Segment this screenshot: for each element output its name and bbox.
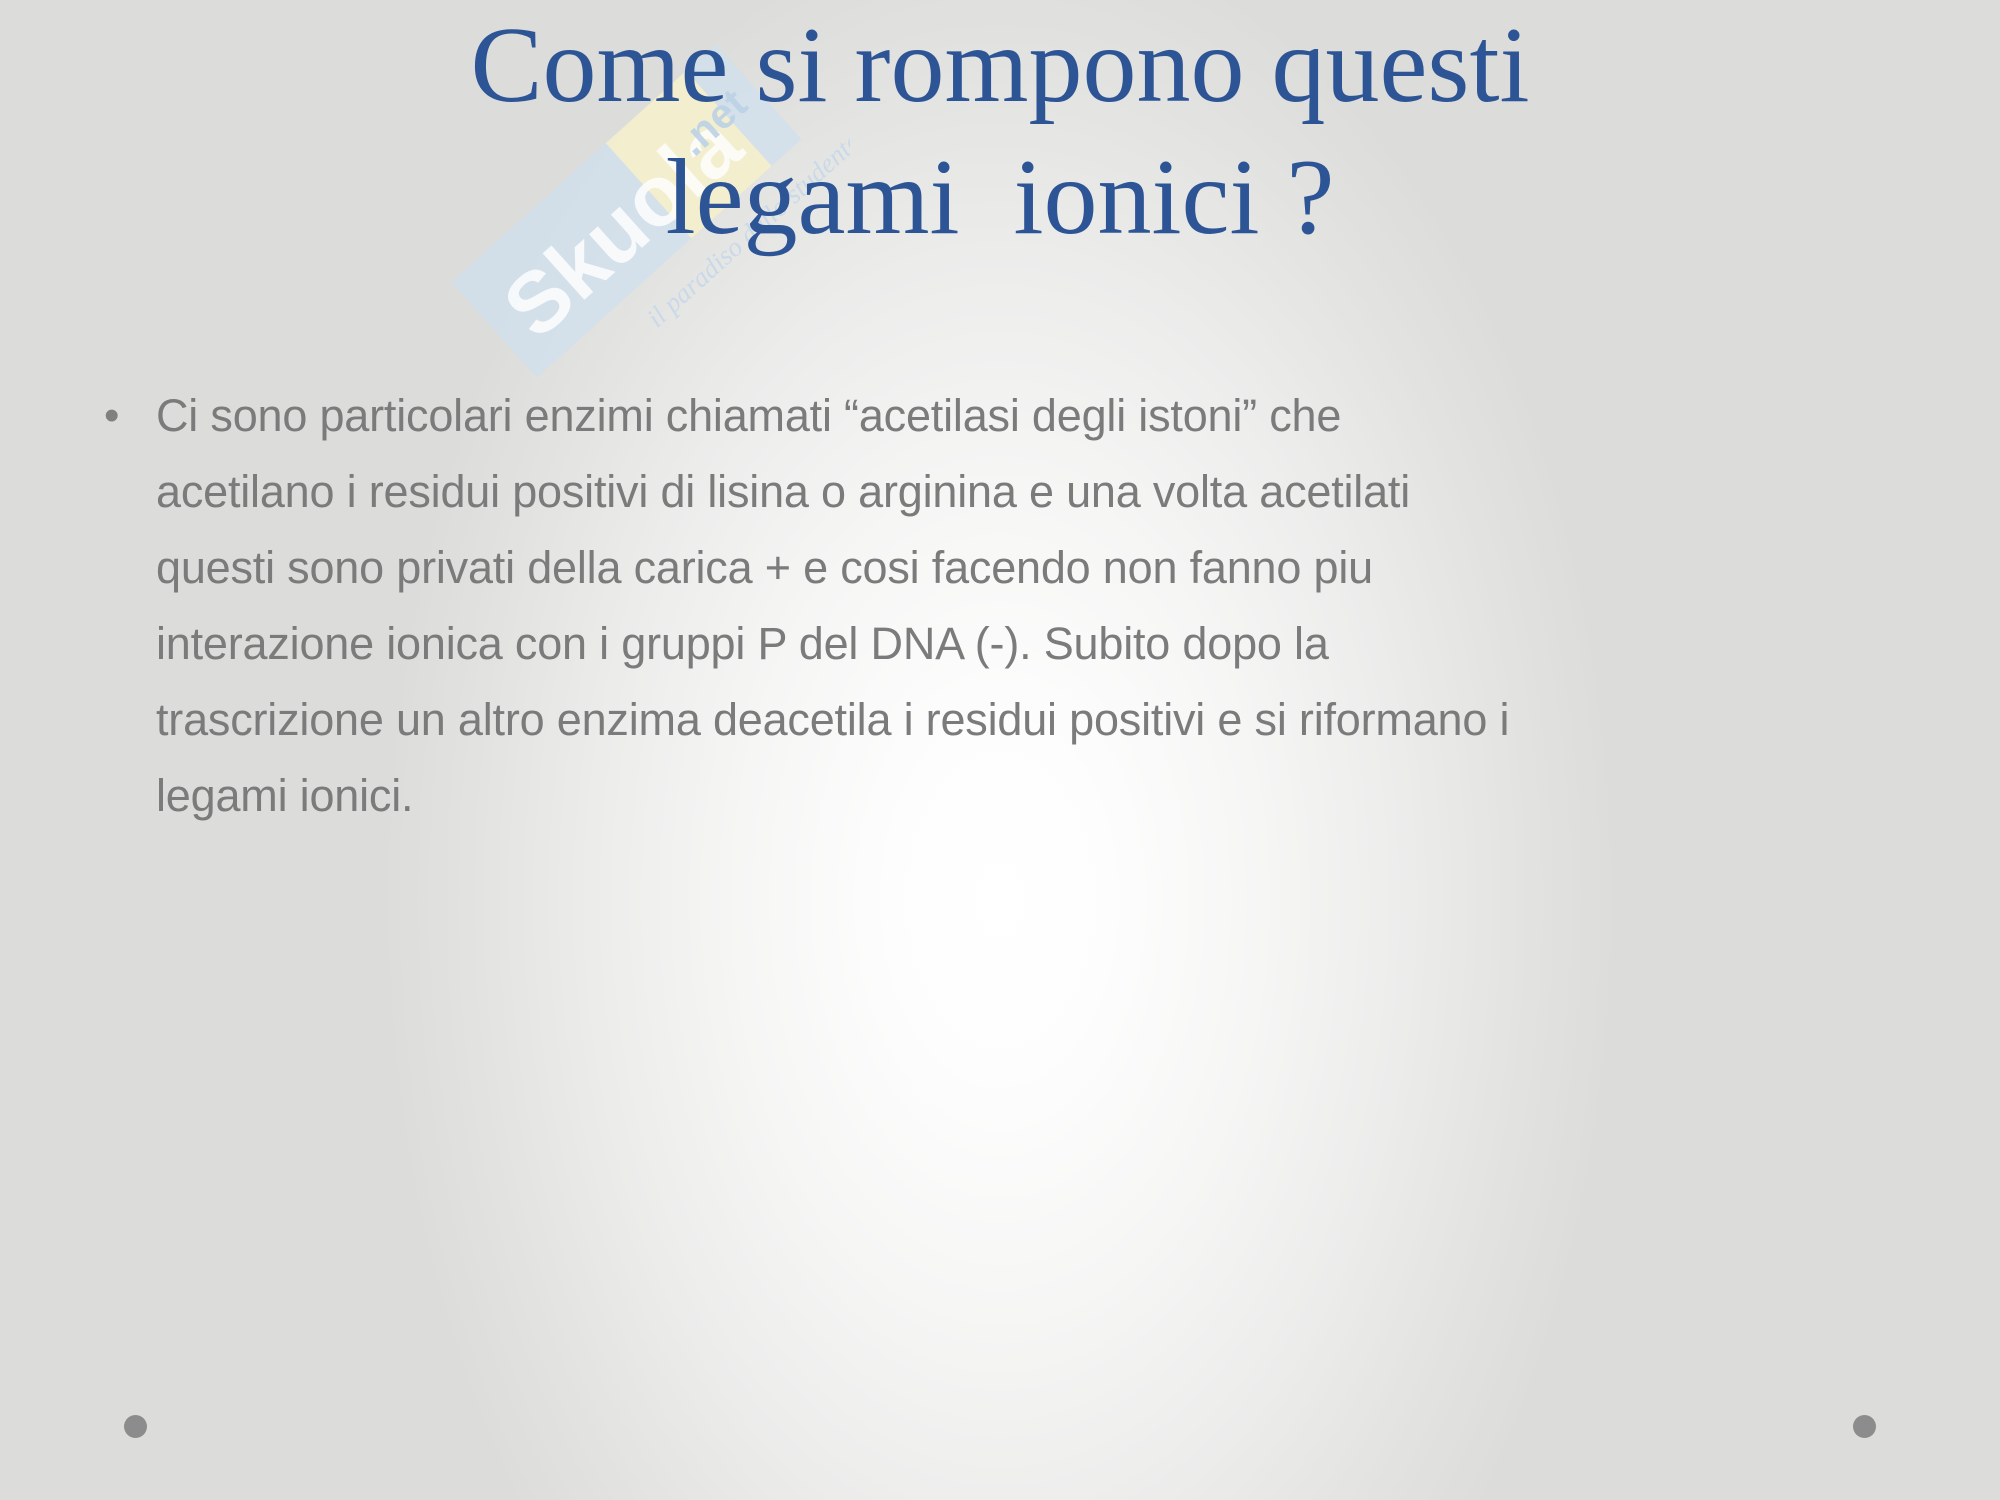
corner-dot-bottom-right bbox=[1853, 1415, 1876, 1438]
bullet-item: • Ci sono particolari enzimi chiamati “a… bbox=[86, 378, 1926, 834]
title-line-2: legami ionici ? bbox=[100, 132, 1900, 264]
title-line-1: Come si rompono questi bbox=[100, 0, 1900, 132]
bullet-line-3: questi sono privati della carica + e cos… bbox=[156, 530, 1926, 606]
bullet-line-4: interazione ionica con i gruppi P del DN… bbox=[156, 606, 1926, 682]
bullet-line-2: acetilano i residui positivi di lisina o… bbox=[156, 454, 1926, 530]
bullet-point-icon: • bbox=[86, 378, 156, 454]
slide-title: Come si rompono questi legami ionici ? bbox=[100, 0, 1900, 264]
bullet-text: Ci sono particolari enzimi chiamati “ace… bbox=[156, 378, 1926, 834]
slide-body: • Ci sono particolari enzimi chiamati “a… bbox=[86, 378, 1926, 834]
bullet-line-1: Ci sono particolari enzimi chiamati “ace… bbox=[156, 378, 1926, 454]
bullet-line-6: legami ionici. bbox=[156, 758, 1926, 834]
corner-dot-bottom-left bbox=[124, 1415, 147, 1438]
bullet-line-5: trascrizione un altro enzima deacetila i… bbox=[156, 682, 1926, 758]
slide-canvas: Skuola .net il paradiso dello studente C… bbox=[0, 0, 2000, 1500]
